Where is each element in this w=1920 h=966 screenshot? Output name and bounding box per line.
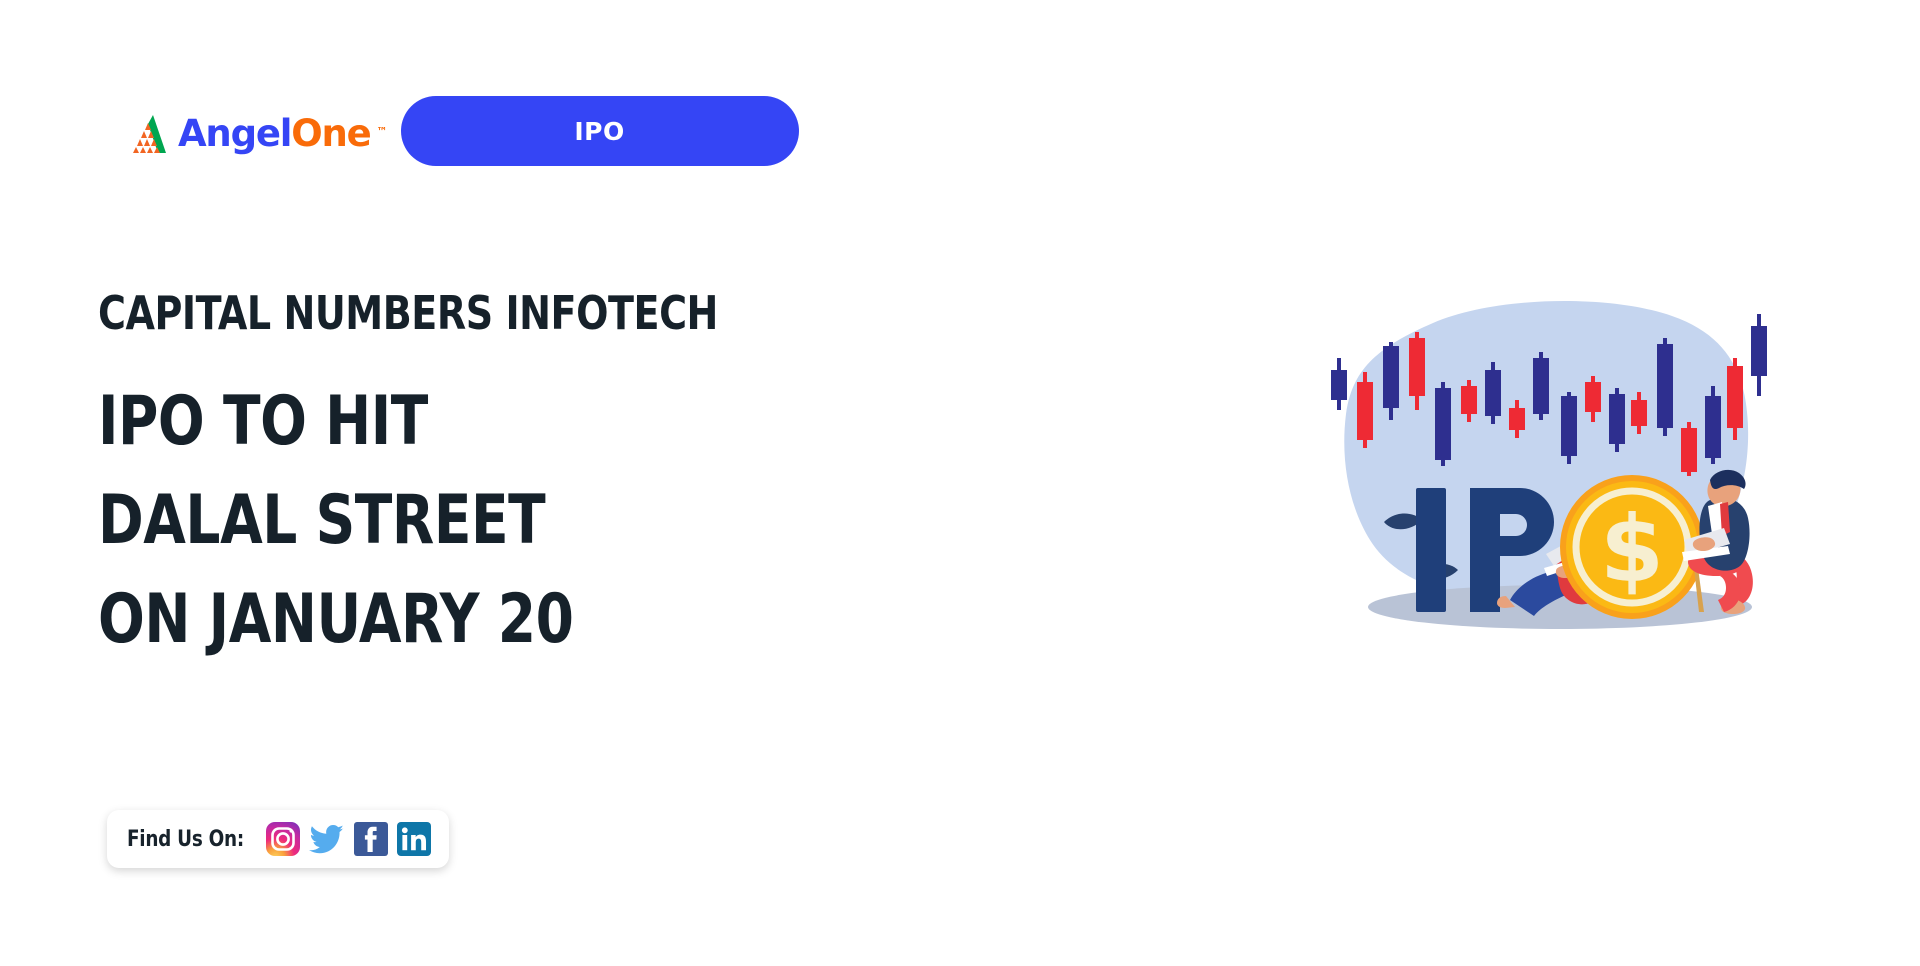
candle-down <box>1727 358 1743 440</box>
instagram-icon[interactable] <box>266 822 300 856</box>
ipo-button[interactable]: IPO <box>401 96 799 166</box>
company-name: CAPITAL NUMBERS INFOTECH <box>98 290 852 336</box>
ipo-button-label: IPO <box>574 117 624 146</box>
candle-down <box>1681 422 1697 476</box>
headline-line-1: IPO TO HIT <box>98 372 836 471</box>
candle-up <box>1705 386 1721 464</box>
linkedin-icon[interactable] <box>397 822 431 856</box>
candle-up <box>1533 352 1549 420</box>
social-label: Find Us On: <box>127 827 244 852</box>
brand-name-one: One <box>291 112 370 155</box>
trademark-symbol: ™ <box>377 112 388 152</box>
candle-down <box>1357 372 1373 448</box>
ipo-illustration-svg: $ <box>1310 300 1810 650</box>
twitter-bird-icon[interactable] <box>309 822 345 856</box>
candle-up <box>1331 358 1347 410</box>
candle-up <box>1435 382 1451 466</box>
candle-up <box>1561 392 1577 464</box>
headline-line-2: DALAL STREET <box>98 471 836 570</box>
candle-up <box>1609 388 1625 452</box>
social-icon-list <box>266 822 431 856</box>
brand-name-angel: Angel <box>178 112 291 155</box>
candle-up <box>1657 338 1673 436</box>
ipo-illustration: $ <box>1310 300 1810 650</box>
dollar-coin: $ <box>1560 475 1704 619</box>
angelone-wordmark: AngelOne™ <box>178 114 371 154</box>
dollar-sign: $ <box>1600 496 1664 603</box>
angelone-triangle-logo-icon <box>128 114 172 154</box>
headline-block: CAPITAL NUMBERS INFOTECH IPO TO HIT DALA… <box>98 290 918 669</box>
candle-up <box>1485 362 1501 424</box>
angelone-logo[interactable]: AngelOne™ <box>128 108 371 154</box>
headline-line-3: ON JANUARY 20 <box>98 570 836 669</box>
header: AngelOne™ IPO <box>128 96 799 166</box>
candle-up <box>1751 314 1767 396</box>
page-title: IPO TO HIT DALAL STREET ON JANUARY 20 <box>98 372 836 669</box>
social-links-card: Find Us On: <box>107 810 449 868</box>
facebook-icon[interactable] <box>354 822 388 856</box>
banner-root: AngelOne™ IPO CAPITAL NUMBERS INFOTECH I… <box>0 0 1920 966</box>
